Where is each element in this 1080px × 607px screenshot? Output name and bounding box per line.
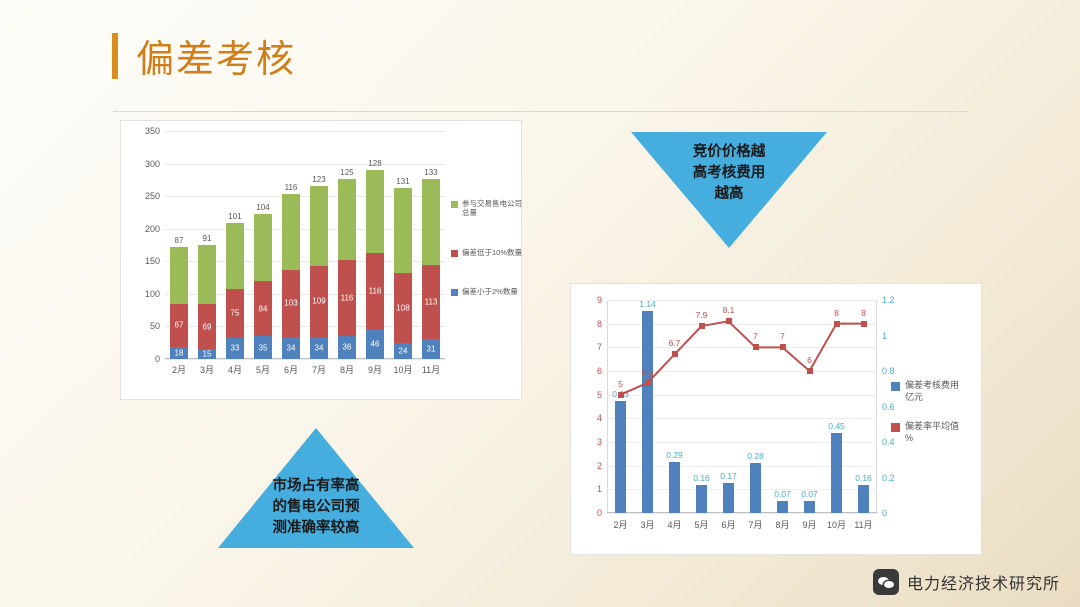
bar-segment: 34	[282, 337, 299, 359]
line-value-label: 7	[780, 331, 785, 341]
bar-segment: 125	[338, 179, 355, 260]
bar-group[interactable]: 34109123	[310, 186, 327, 359]
bar-value-label: 91	[203, 234, 212, 243]
bar-segment: 116	[366, 253, 383, 329]
bar-segment: 109	[310, 266, 327, 337]
bar-group[interactable]: 186787	[170, 247, 187, 359]
bar-segment: 69	[198, 304, 215, 349]
combo-chart-panel: 012345678900.20.40.60.811.20.632月1.143月0…	[570, 283, 982, 555]
callout-down-text: 竞价价格越高考核费用越高	[631, 142, 827, 205]
left-y-axis-tick: 2	[597, 461, 602, 471]
bar-value-label: 104	[256, 203, 269, 212]
bar-segment: 31	[422, 339, 439, 359]
bar-value-label: 36	[343, 343, 352, 352]
legend-swatch	[451, 289, 458, 296]
line-value-label: 6.7	[669, 338, 681, 348]
left-y-axis-tick: 6	[597, 366, 602, 376]
y-axis-tick: 200	[145, 224, 160, 234]
x-axis-tick: 7月	[748, 518, 762, 531]
bar-segment: 128	[366, 170, 383, 253]
bar-value-label: 101	[228, 212, 241, 221]
line-marker[interactable]	[645, 380, 651, 386]
bar-value-label: 131	[396, 177, 409, 186]
x-axis-tick: 10月	[827, 518, 846, 531]
legend-item: 偏差小于2%数量	[451, 287, 529, 296]
bar-segment: 87	[170, 247, 187, 304]
stacked-bar-plot-area: 0501001502002503003501867872月1569913月337…	[165, 131, 445, 359]
bar-value-label: 46	[371, 340, 380, 349]
bar-value-label: 75	[231, 309, 240, 318]
combo-plot-area: 012345678900.20.40.60.811.20.632月1.143月0…	[607, 300, 877, 513]
line-marker[interactable]	[726, 318, 732, 324]
right-y-axis-tick: 0.2	[882, 473, 895, 483]
line-marker[interactable]	[618, 392, 624, 398]
y-axis-tick: 150	[145, 256, 160, 266]
y-axis-tick: 250	[145, 191, 160, 201]
bar-segment: 116	[338, 260, 355, 336]
line-value-label: 8	[834, 308, 839, 318]
bar-segment: 113	[422, 265, 439, 339]
x-axis-tick: 4月	[667, 518, 681, 531]
bar-group[interactable]: 36116125	[338, 179, 355, 359]
gridline	[607, 513, 877, 514]
left-y-axis-tick: 8	[597, 319, 602, 329]
right-y-axis-tick: 1.2	[882, 295, 895, 305]
bar-segment: 108	[394, 273, 411, 343]
bar-segment: 116	[282, 194, 299, 270]
bar-value-label: 15	[203, 350, 212, 359]
bar-group[interactable]: 46116128	[366, 170, 383, 359]
line-value-label: 6	[807, 355, 812, 365]
gridline	[165, 131, 445, 132]
gridline	[165, 359, 445, 360]
x-axis-tick: 8月	[775, 518, 789, 531]
legend-label: 偏差小于2%数量	[462, 287, 518, 296]
wechat-icon	[873, 569, 899, 595]
x-axis-tick: 8月	[340, 363, 354, 376]
line-value-label: 8.1	[723, 305, 735, 315]
legend-swatch	[451, 201, 458, 208]
x-axis-tick: 11月	[422, 363, 440, 376]
x-axis-tick: 5月	[256, 363, 270, 376]
bar-value-label: 87	[175, 236, 184, 245]
x-axis-tick: 9月	[802, 518, 816, 531]
bar-value-label: 33	[231, 344, 240, 353]
y-axis-tick: 350	[145, 126, 160, 136]
y-axis-tick: 300	[145, 159, 160, 169]
x-axis-tick: 10月	[393, 363, 412, 376]
bar-segment: 15	[198, 349, 215, 359]
legend-item: 参与交易售电公司总量	[451, 199, 529, 218]
line-value-label: 7	[753, 331, 758, 341]
bar-segment: 123	[310, 186, 327, 266]
bar-value-label: 69	[203, 322, 212, 331]
bar-group[interactable]: 24108131	[394, 188, 411, 359]
bar-segment: 131	[394, 188, 411, 273]
callout-up-text: 市场占有率高的售电公司预测准确率较高	[218, 476, 414, 539]
bar-segment: 75	[226, 289, 243, 338]
x-axis-tick: 11月	[854, 518, 872, 531]
bar-value-label: 116	[285, 183, 298, 192]
line-value-label: 5	[618, 379, 623, 389]
bar-value-label: 128	[368, 159, 381, 168]
page-title: 偏差考核	[136, 28, 296, 83]
x-axis-tick: 6月	[284, 363, 298, 376]
bar-value-label: 113	[425, 298, 438, 307]
bar-segment: 24	[394, 343, 411, 359]
left-y-axis-tick: 5	[597, 390, 602, 400]
x-axis-tick: 2月	[613, 518, 627, 531]
bar-value-label: 84	[259, 304, 268, 313]
bar-group[interactable]: 3375101	[226, 223, 243, 359]
bar-value-label: 24	[399, 347, 408, 356]
left-y-axis-tick: 9	[597, 295, 602, 305]
bar-value-label: 35	[259, 343, 268, 352]
bar-value-label: 109	[312, 297, 325, 306]
legend-swatch	[891, 423, 900, 432]
bar-group[interactable]: 3584104	[254, 214, 271, 359]
x-axis-tick: 9月	[368, 363, 382, 376]
x-axis-tick: 6月	[721, 518, 735, 531]
footer-label: 电力经济技术研究所	[907, 570, 1060, 594]
legend-swatch	[451, 250, 458, 257]
x-axis-tick: 4月	[228, 363, 242, 376]
title-accent-bar	[112, 33, 118, 79]
left-y-axis-tick: 0	[597, 508, 602, 518]
bar-value-label: 34	[315, 343, 324, 352]
title-divider	[113, 111, 968, 112]
bar-segment: 104	[254, 214, 271, 282]
line-marker[interactable]	[672, 351, 678, 357]
legend-item: 偏差低于10%数量	[451, 248, 529, 257]
bar-value-label: 133	[424, 168, 437, 177]
bar-value-label: 34	[287, 343, 296, 352]
x-axis-tick: 7月	[312, 363, 326, 376]
bar-group[interactable]: 34103116	[282, 194, 299, 359]
y-axis-tick: 0	[155, 354, 160, 364]
bar-segment: 46	[366, 329, 383, 359]
legend-label: 偏差低于10%数量	[462, 248, 522, 257]
bar-value-label: 116	[369, 287, 382, 296]
y-axis-tick: 100	[145, 289, 160, 299]
line-marker[interactable]	[753, 344, 759, 350]
bar-group[interactable]: 31113133	[422, 179, 439, 359]
legend-item: 偏差考核费用亿元	[891, 380, 981, 403]
bar-segment: 36	[338, 336, 355, 359]
bar-segment: 101	[226, 223, 243, 289]
line-marker[interactable]	[699, 323, 705, 329]
left-y-axis-tick: 7	[597, 342, 602, 352]
line-value-label: 8	[861, 308, 866, 318]
stacked-bar-chart-panel: 0501001502002503003501867872月1569913月337…	[120, 120, 522, 400]
bar-segment: 91	[198, 245, 215, 304]
bar-value-label: 18	[175, 349, 184, 358]
legend-label: 参与交易售电公司总量	[462, 199, 529, 218]
bar-segment: 67	[170, 304, 187, 348]
line-value-label: 5.5	[642, 367, 654, 377]
line-series	[607, 300, 877, 513]
line-marker[interactable]	[834, 321, 840, 327]
bar-segment: 133	[422, 179, 439, 266]
bar-value-label: 108	[396, 304, 409, 313]
left-y-axis-tick: 1	[597, 484, 602, 494]
line-marker[interactable]	[780, 344, 786, 350]
line-marker[interactable]	[861, 321, 867, 327]
bar-value-label: 103	[284, 299, 297, 308]
bar-segment: 34	[310, 337, 327, 359]
footer-watermark: 电力经济技术研究所	[873, 569, 1060, 595]
bar-segment: 18	[170, 347, 187, 359]
line-value-label: 7.9	[696, 310, 708, 320]
gridline	[165, 164, 445, 165]
bar-value-label: 67	[175, 321, 184, 330]
page-title-block: 偏差考核	[112, 28, 296, 83]
combo-legend: 偏差考核费用亿元偏差率平均值%	[891, 380, 981, 463]
callout-down-arrow: 竞价价格越高考核费用越高	[631, 132, 827, 248]
right-y-axis-tick: 0	[882, 508, 887, 518]
bar-value-label: 125	[340, 168, 353, 177]
x-axis-tick: 3月	[200, 363, 214, 376]
right-y-axis-tick: 1	[882, 331, 887, 341]
bar-segment: 84	[254, 281, 271, 336]
bar-group[interactable]: 156991	[198, 245, 215, 359]
y-axis-tick: 50	[150, 321, 160, 331]
line-marker[interactable]	[807, 368, 813, 374]
left-y-axis-tick: 3	[597, 437, 602, 447]
bar-segment: 33	[226, 338, 243, 359]
stacked-bar-legend: 参与交易售电公司总量偏差低于10%数量偏差小于2%数量	[451, 199, 529, 327]
bar-value-label: 31	[427, 344, 436, 353]
x-axis-tick: 5月	[694, 518, 708, 531]
left-y-axis-tick: 4	[597, 413, 602, 423]
x-axis-tick: 3月	[640, 518, 654, 531]
x-axis-tick: 2月	[172, 363, 186, 376]
legend-label: 偏差率平均值%	[905, 421, 959, 444]
right-y-axis-tick: 0.8	[882, 366, 895, 376]
legend-swatch	[891, 382, 900, 391]
bar-segment: 103	[282, 270, 299, 337]
bar-value-label: 123	[312, 175, 325, 184]
legend-item: 偏差率平均值%	[891, 421, 981, 444]
legend-label: 偏差考核费用亿元	[905, 380, 959, 403]
bar-segment: 35	[254, 336, 271, 359]
callout-up-arrow: 市场占有率高的售电公司预测准确率较高	[218, 428, 414, 548]
bar-value-label: 116	[341, 293, 354, 302]
